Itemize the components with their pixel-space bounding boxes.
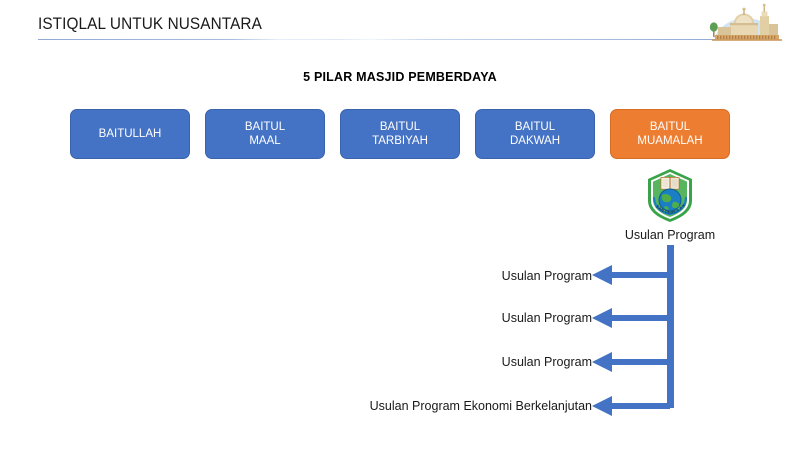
page-title: ISTIQLAL UNTUK NUSANTARA <box>38 15 262 34</box>
pillar-box-baitul-muamalah[interactable]: BAITUL MUAMALAH <box>610 109 730 159</box>
yayasan-shield-globe-book-logo-icon: YAYASAN PERKA AKBAR <box>645 168 695 223</box>
pillars-row: BAITULLAH BAITUL MAAL BAITUL TARBIYAH BA… <box>70 109 732 159</box>
pillar-box-baitul-dakwah[interactable]: BAITUL DAKWAH <box>475 109 595 159</box>
section-heading: 5 PILAR MASJID PEMBERDAYA <box>0 70 800 84</box>
pillar-box-baitullah[interactable]: BAITULLAH <box>70 109 190 159</box>
pillar-box-baitul-maal[interactable]: BAITUL MAAL <box>205 109 325 159</box>
foundation-caption: Usulan Program <box>600 228 740 242</box>
istiqlal-mosque-illustration-icon <box>700 2 792 44</box>
flow-label-2: Usulan Program <box>502 311 592 325</box>
title-divider <box>38 39 728 40</box>
flow-label-1: Usulan Program <box>502 269 592 283</box>
flow-connector-group <box>0 0 800 450</box>
flow-label-3: Usulan Program <box>502 355 592 369</box>
pillar-box-baitul-tarbiyah[interactable]: BAITUL TARBIYAH <box>340 109 460 159</box>
flow-label-4: Usulan Program Ekonomi Berkelanjutan <box>370 399 592 413</box>
